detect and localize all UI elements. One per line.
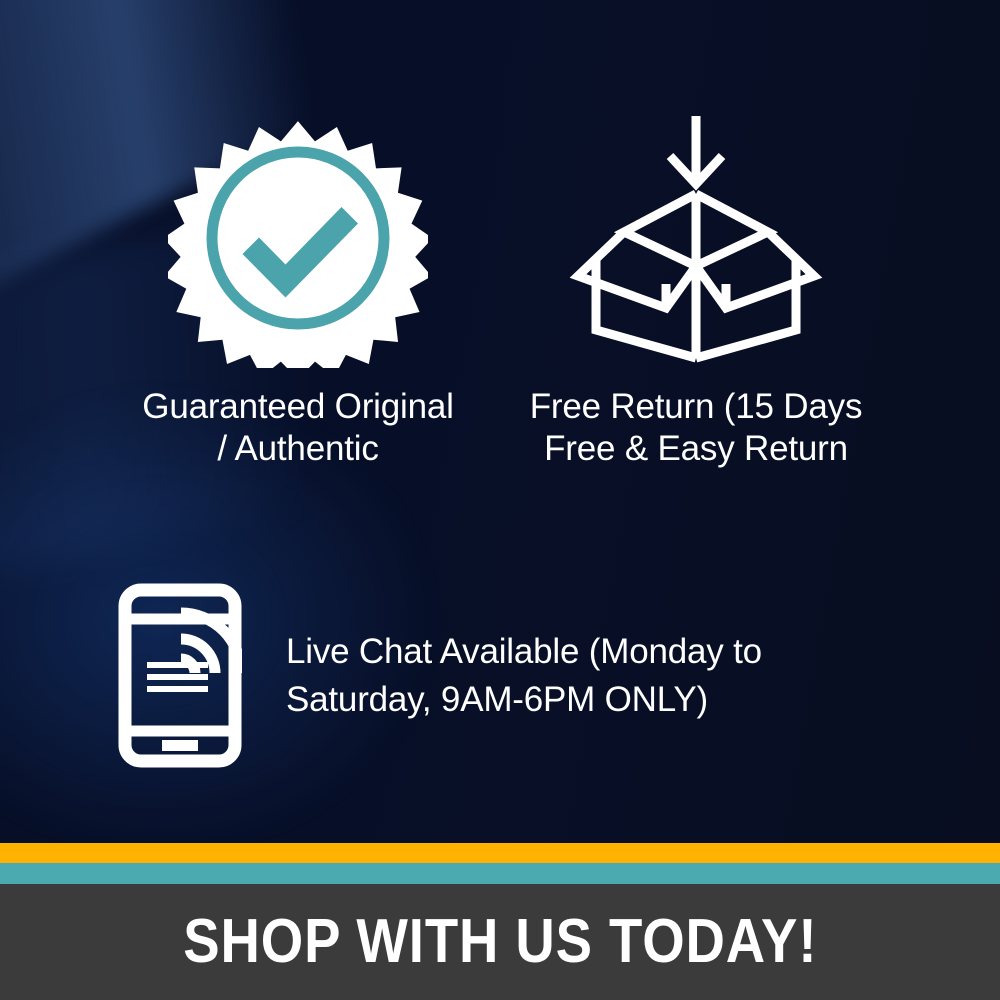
verified-badge-icon — [168, 108, 428, 368]
phone-chat-icon-wrap — [118, 583, 242, 768]
feature-free-return-label: Free Return (15 Days Free & Easy Return — [486, 386, 906, 470]
shop-cta-bar[interactable]: SHOP WITH US TODAY! — [0, 884, 1000, 1000]
verified-badge-icon-wrap — [88, 108, 508, 368]
teal-stripe — [0, 863, 1000, 884]
feature-live-chat: Live Chat Available (Monday to Saturday,… — [118, 583, 918, 768]
feature-guaranteed-original: Guaranteed Original / Authentic — [88, 108, 508, 470]
open-box-arrow-icon — [566, 108, 826, 368]
phone-chat-icon — [118, 583, 242, 768]
feature-live-chat-label: Live Chat Available (Monday to Saturday,… — [286, 628, 918, 724]
open-box-arrow-icon-wrap — [486, 108, 906, 368]
feature-guaranteed-original-label: Guaranteed Original / Authentic — [88, 386, 508, 470]
orange-stripe — [0, 843, 1000, 863]
promo-banner: Guaranteed Original / Authentic — [0, 0, 1000, 1000]
feature-free-return: Free Return (15 Days Free & Easy Return — [486, 108, 906, 470]
shop-cta-text: SHOP WITH US TODAY! — [183, 911, 817, 973]
